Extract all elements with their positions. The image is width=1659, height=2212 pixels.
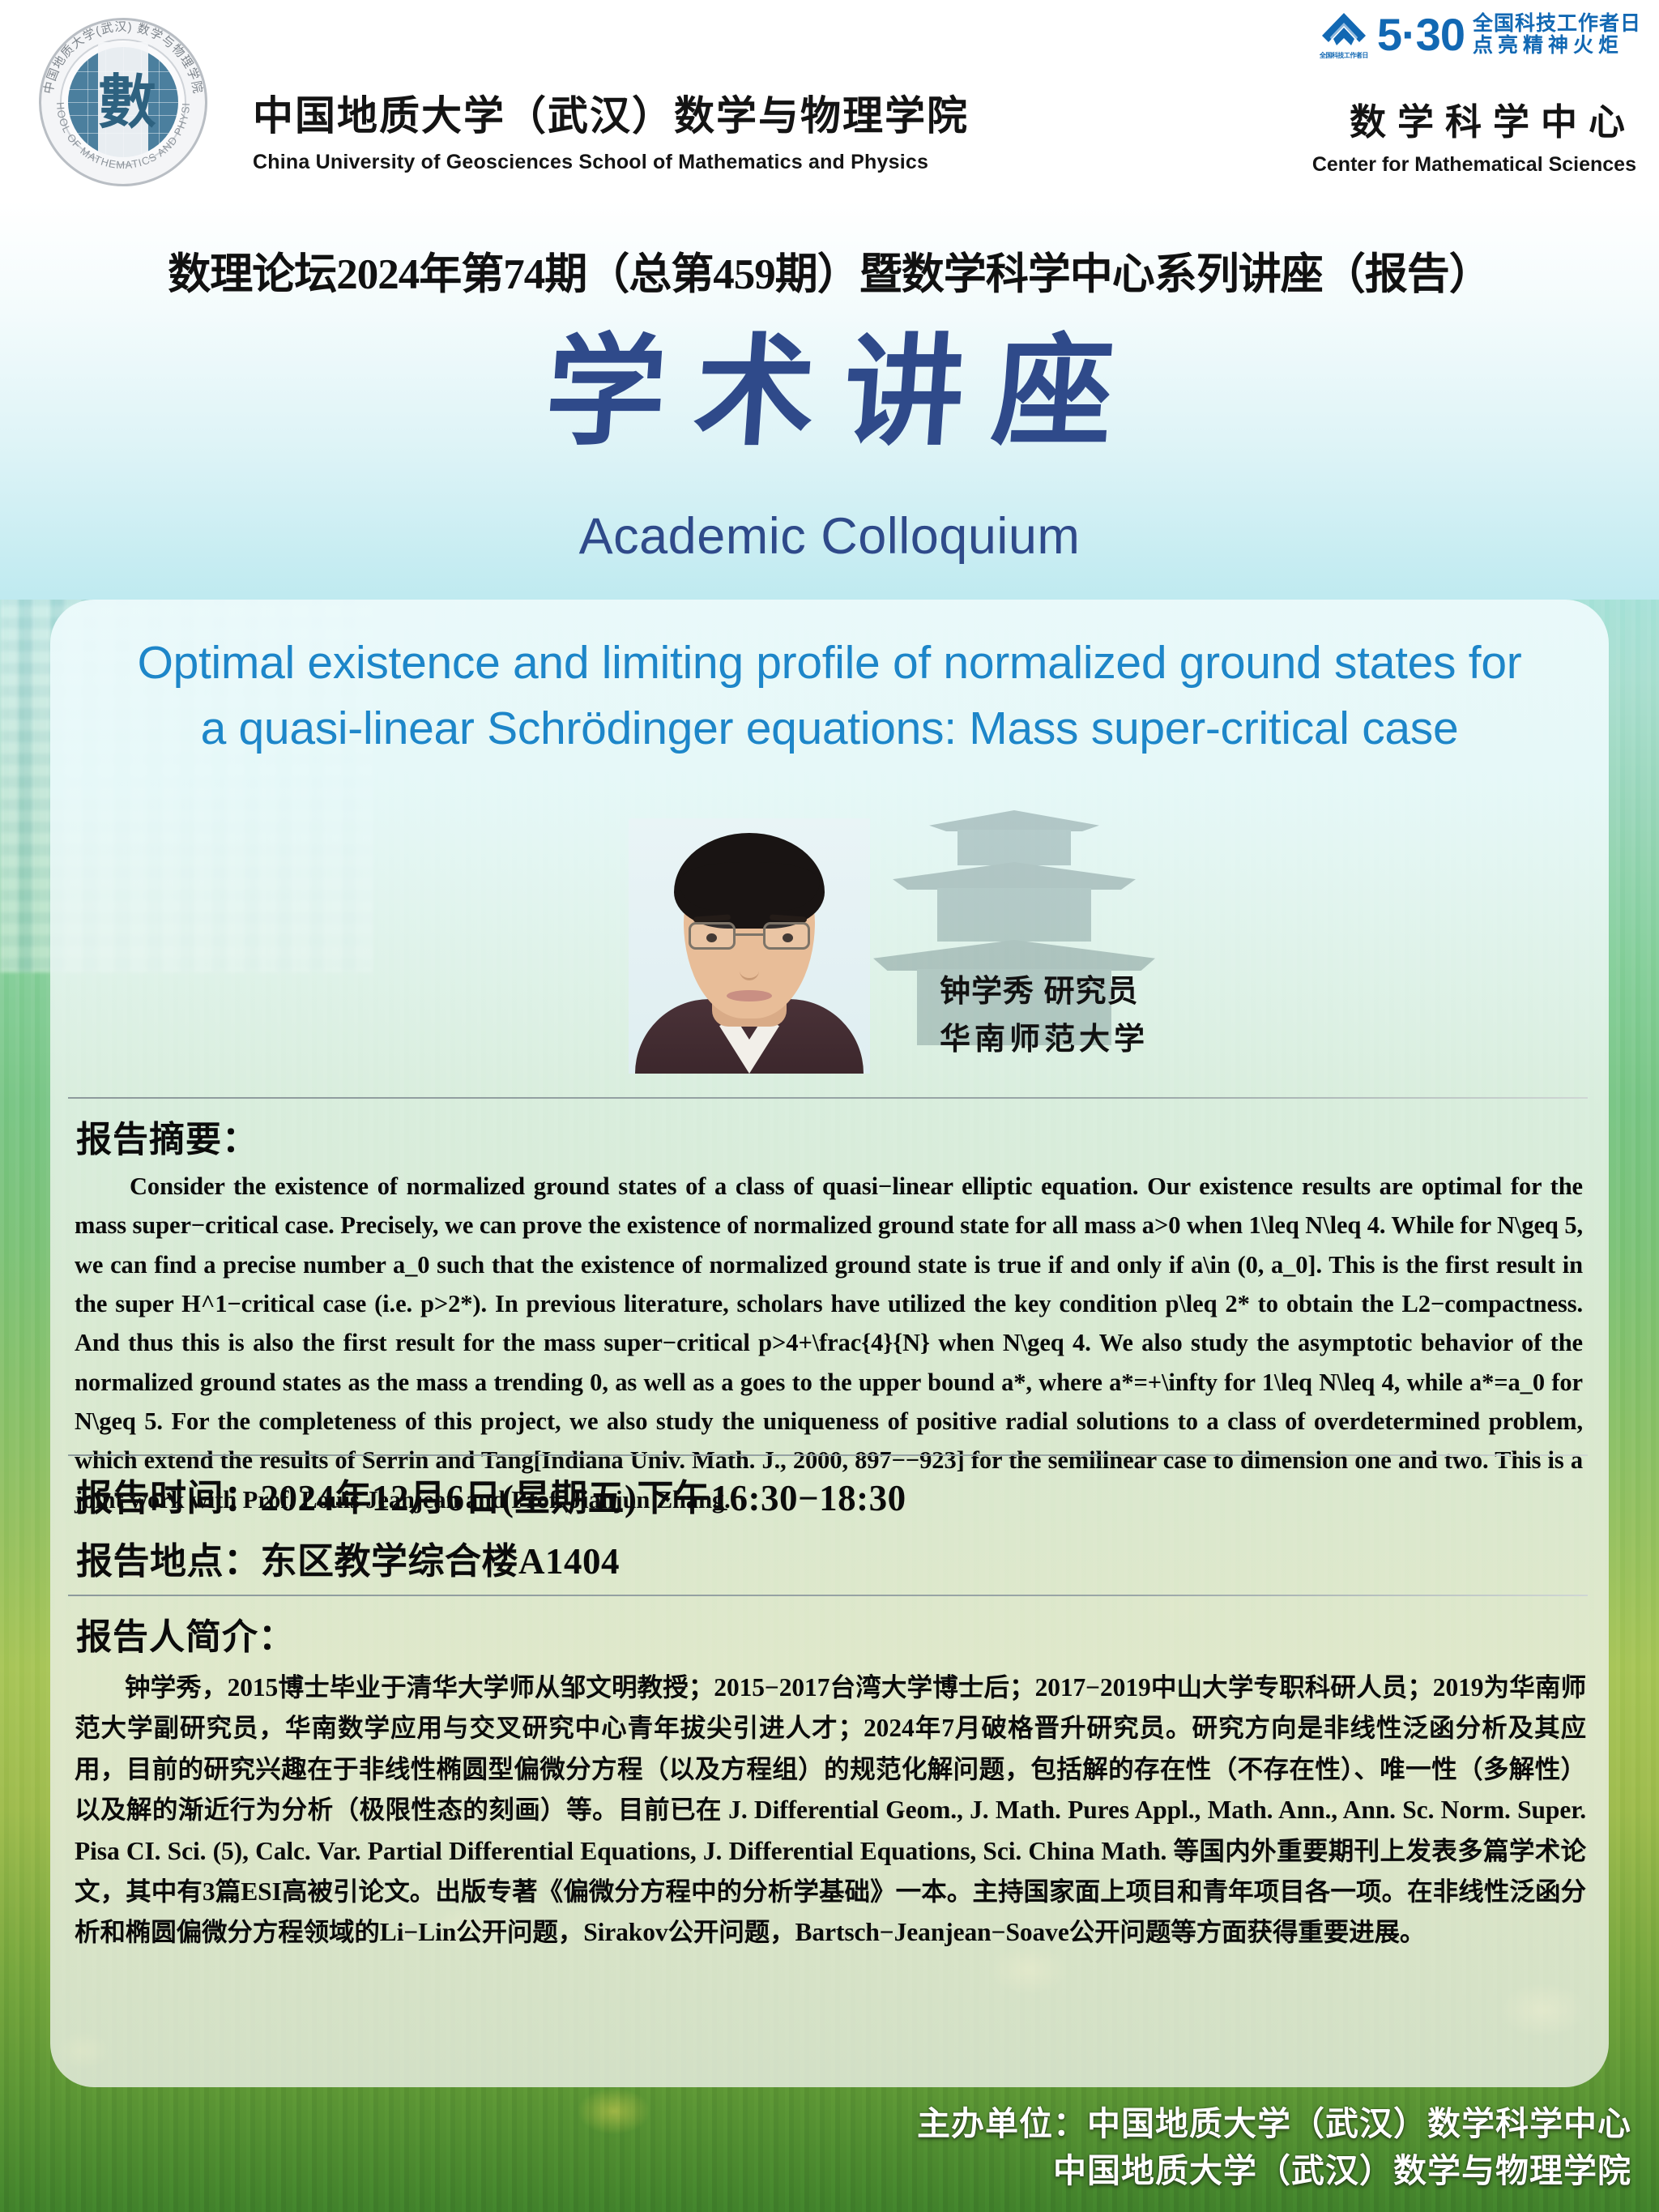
- poster-root: 數 中国地质大学(武汉) 数学与物理学院 SCHOOL OF MATHEMATI…: [0, 0, 1659, 2212]
- emblem-arc-text: 中国地质大学(武汉) 数学与物理学院 SCHOOL OF MATHEMATICS…: [39, 18, 207, 186]
- badge-date-number: 5·30: [1377, 13, 1465, 56]
- footer-organizers: 主办单位：中国地质大学（武汉）数学科学中心 中国地质大学（武汉）数学与物理学院: [917, 2100, 1631, 2194]
- talk-time-value: 2024年12月6日(星期五)下午16:30−18:30: [261, 1478, 906, 1518]
- center-name-cn: 数学科学中心: [1312, 104, 1636, 140]
- talk-title-line2: a quasi-linear Schrödinger equations: Ma…: [83, 696, 1576, 762]
- badge-slogan: 全国科技工作者日 点亮精神火炬: [1473, 13, 1641, 58]
- cug-school-emblem-icon: 數 中国地质大学(武汉) 数学与物理学院 SCHOOL OF MATHEMATI…: [39, 18, 207, 186]
- colloquium-english-heading: Academic Colloquium: [0, 507, 1659, 566]
- divider-above-bio: [68, 1595, 1588, 1596]
- talk-title-line1: Optimal existence and limiting profile o…: [83, 630, 1576, 696]
- abstract-text: Consider the existence of normalized gro…: [75, 1167, 1583, 1519]
- university-name-block: 中国地质大学（武汉）数学与物理学院 China University of Ge…: [253, 96, 969, 174]
- university-name-en: China University of Geosciences School o…: [253, 151, 969, 174]
- bio-heading: 报告人简介：: [76, 1608, 295, 1659]
- center-name-en: Center for Mathematical Sciences: [1312, 153, 1636, 177]
- center-name-block: 数学科学中心 Center for Mathematical Sciences: [1312, 104, 1636, 177]
- footer-line1: 主办单位：中国地质大学（武汉）数学科学中心: [917, 2100, 1631, 2147]
- speaker-name: 钟学秀 研究员: [940, 968, 1149, 1016]
- calligraphy-heading: 学术讲座: [0, 322, 1659, 460]
- badge-slogan-line2: 点亮精神火炬: [1473, 35, 1641, 58]
- forum-series-line: 数理论坛2024年第74期（总第459期）暨数学科学中心系列讲座（报告）: [0, 240, 1659, 301]
- footer-line2: 中国地质大学（武汉）数学与物理学院: [917, 2147, 1631, 2194]
- abstract-body: Consider the existence of normalized gro…: [75, 1167, 1583, 1519]
- bio-text: 钟学秀，2015博士毕业于清华大学师从邹文明教授；2015−2017台湾大学博士…: [75, 1668, 1586, 1954]
- content-panel: Optimal existence and limiting profile o…: [50, 600, 1609, 2087]
- talk-time-label: 报告时间：: [76, 1477, 261, 1518]
- badge-mark-caption: 全国科技工作者日: [1320, 51, 1368, 60]
- talk-time-line: 报告时间：2024年12月6日(星期五)下午16:30−18:30: [76, 1468, 906, 1521]
- talk-place-label: 报告地点：: [76, 1540, 261, 1582]
- badge-slogan-line1: 全国科技工作者日: [1473, 13, 1641, 36]
- title-zone: 数理论坛2024年第74期（总第459期）暨数学科学中心系列讲座（报告） 学术讲…: [0, 201, 1659, 600]
- speaker-portrait: [629, 818, 870, 1074]
- science-workers-day-torch-icon: 全国科技工作者日: [1319, 11, 1369, 58]
- science-workers-day-badge: 全国科技工作者日 5·30 全国科技工作者日 点亮精神火炬: [1319, 11, 1641, 58]
- talk-place-value: 东区教学综合楼A1404: [261, 1541, 621, 1582]
- divider-above-abstract: [68, 1097, 1588, 1099]
- talk-title: Optimal existence and limiting profile o…: [83, 630, 1576, 762]
- talk-place-line: 报告地点：东区教学综合楼A1404: [76, 1531, 620, 1584]
- header-band: 數 中国地质大学(武汉) 数学与物理学院 SCHOOL OF MATHEMATI…: [0, 0, 1659, 201]
- abstract-heading: 报告摘要：: [76, 1110, 258, 1162]
- svg-text:中国地质大学(武汉) 数学与物理学院: 中国地质大学(武汉) 数学与物理学院: [41, 20, 205, 96]
- university-name-cn: 中国地质大学（武汉）数学与物理学院: [253, 96, 969, 136]
- speaker-info: 钟学秀 研究员 华南师范大学: [940, 968, 1149, 1064]
- bio-body: 钟学秀，2015博士毕业于清华大学师从邹文明教授；2015−2017台湾大学博士…: [75, 1668, 1586, 1954]
- divider-above-details: [68, 1454, 1588, 1456]
- speaker-affiliation: 华南师范大学: [940, 1016, 1149, 1064]
